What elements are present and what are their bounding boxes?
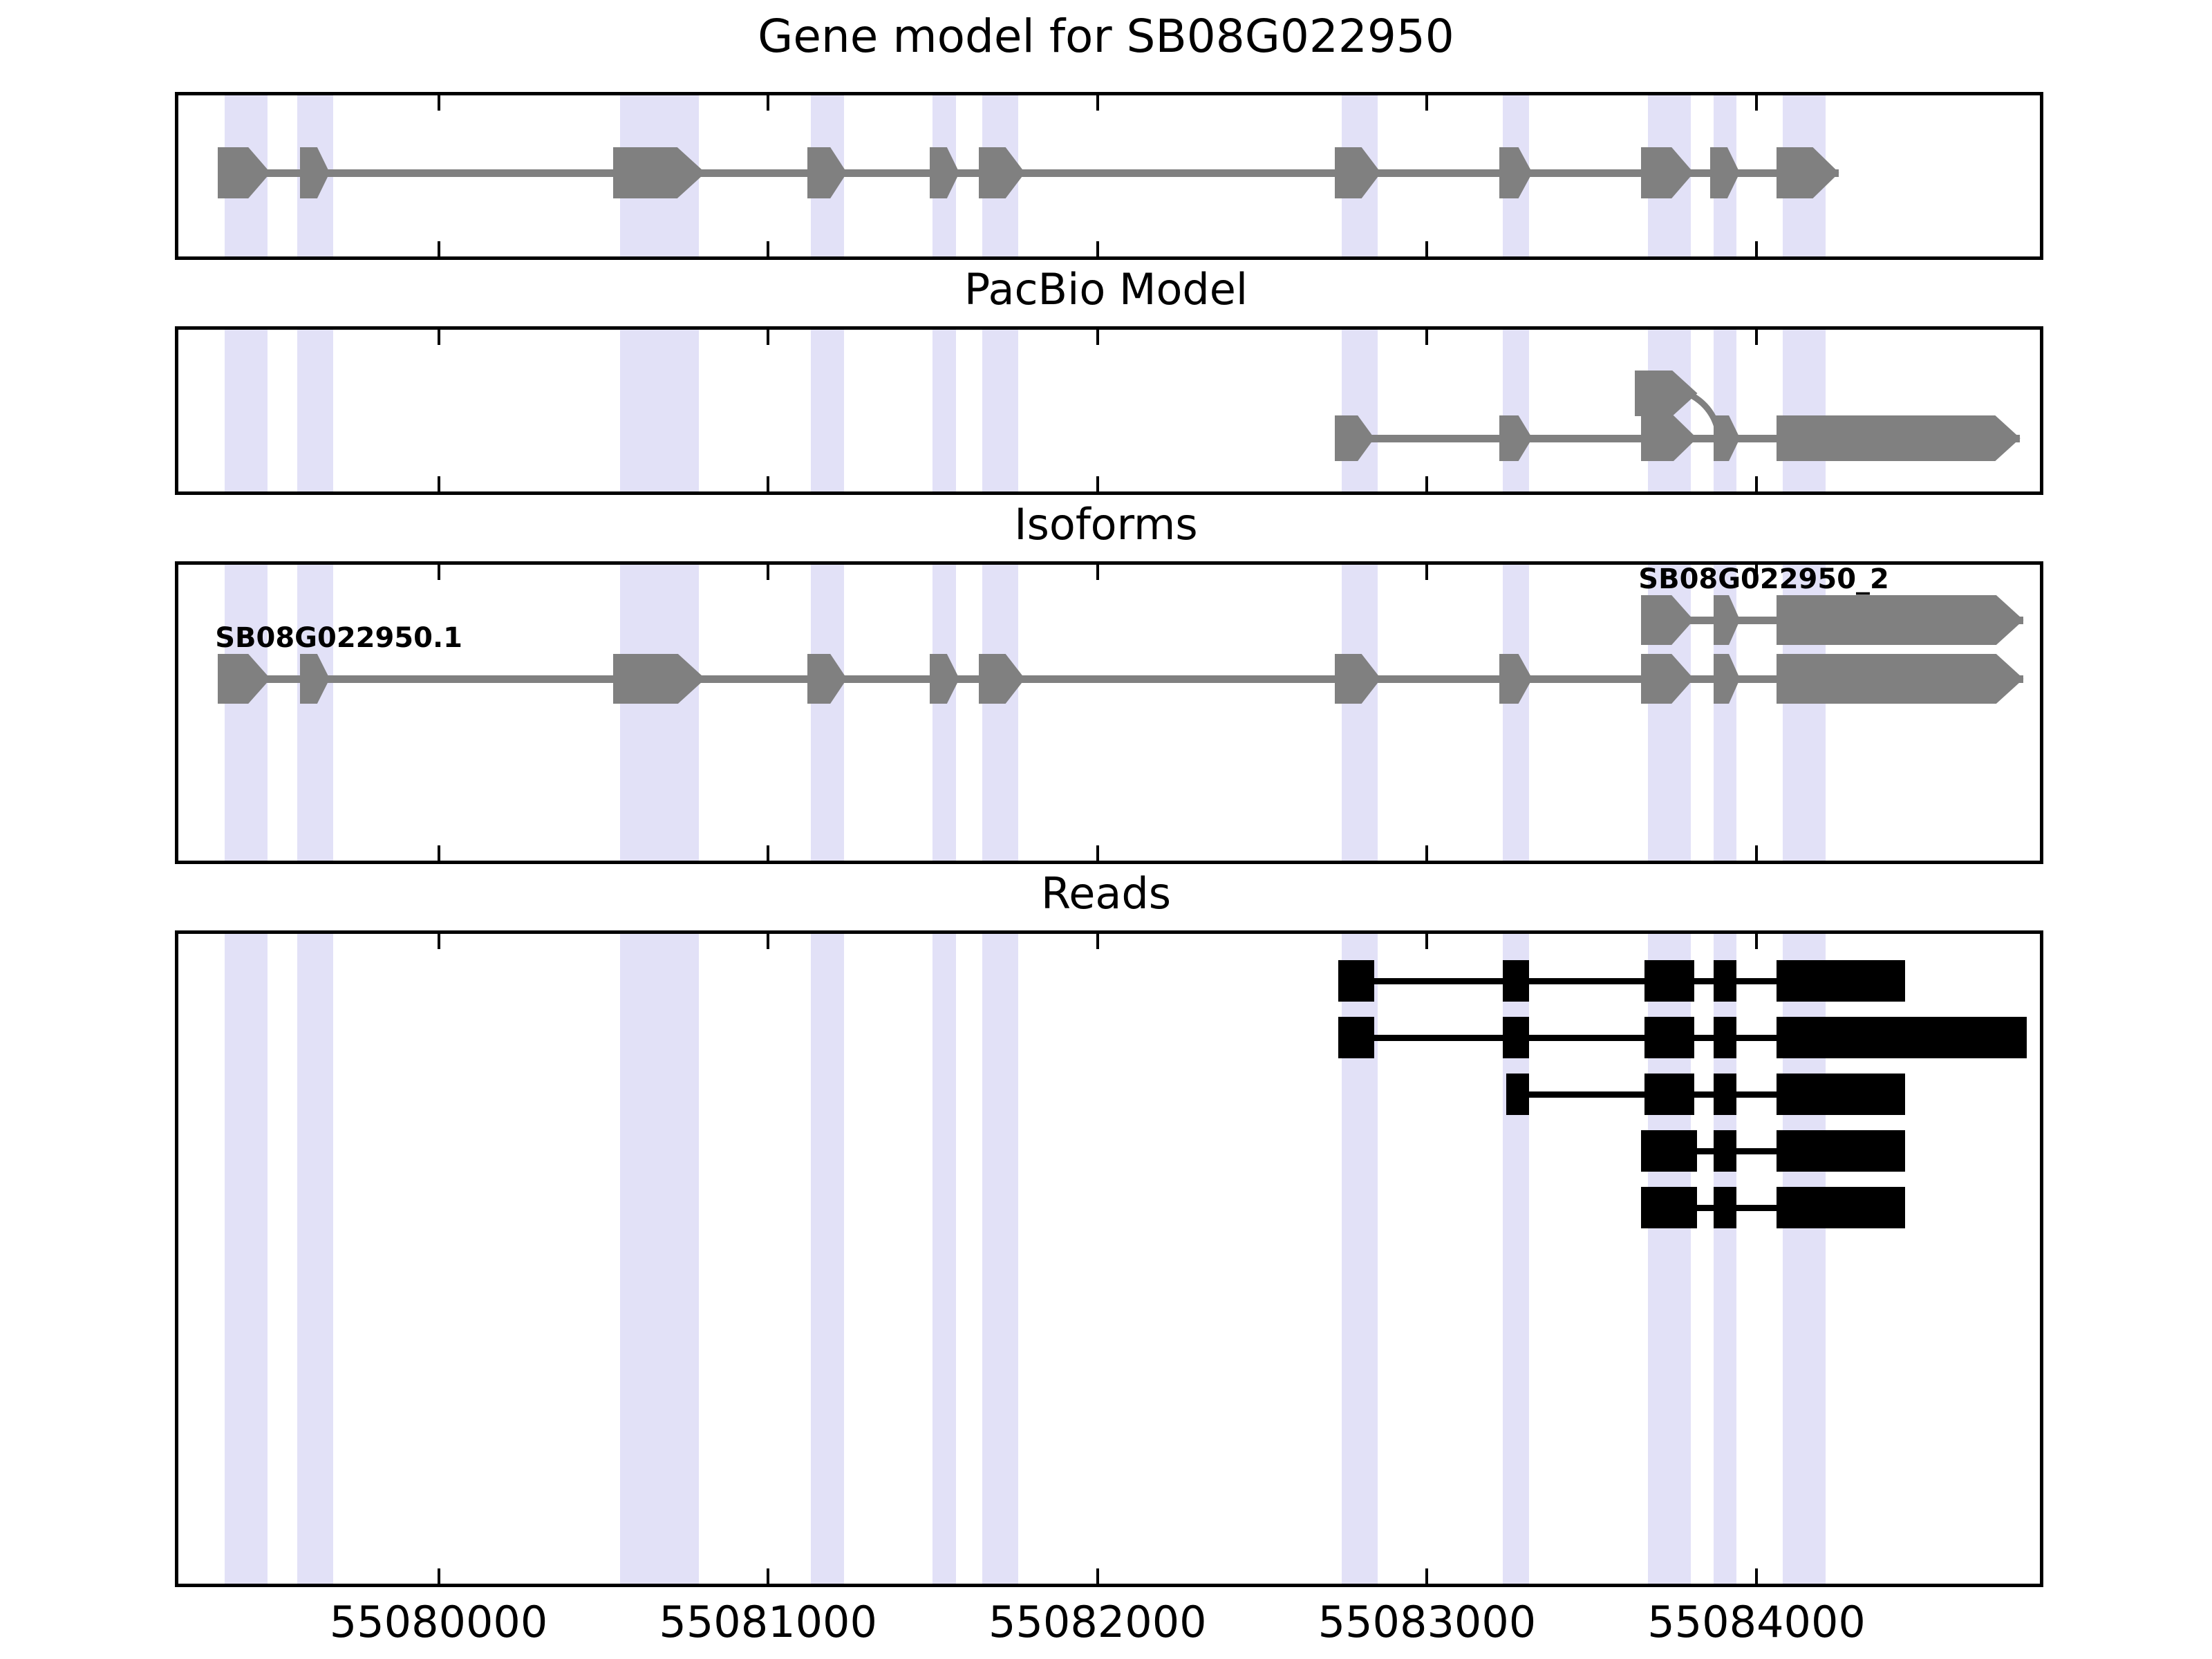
- read-exon-block[interactable]: [1503, 960, 1529, 1002]
- read-exon-block[interactable]: [1714, 1130, 1736, 1172]
- read-exon-block[interactable]: [1777, 960, 1905, 1002]
- read-exon-block[interactable]: [1777, 1017, 2027, 1058]
- axis-tick: [438, 565, 440, 580]
- highlight-band: [1783, 330, 1826, 491]
- read-exon-block[interactable]: [1714, 960, 1736, 1002]
- gene-model-exon[interactable]: [979, 147, 1025, 198]
- isoform-label: SB08G022950_2: [1638, 563, 1889, 595]
- read-exon-block[interactable]: [1714, 1187, 1736, 1228]
- gene-model-figure: Gene model for SB08G022950 PacBio Model …: [0, 0, 2212, 1659]
- axis-tick: [767, 1568, 769, 1584]
- axis-tick: [438, 845, 440, 861]
- gene-model-exon[interactable]: [218, 147, 270, 198]
- axis-tick: [1425, 1568, 1428, 1584]
- isoform-1-intron-line: [218, 675, 2023, 683]
- panel-isoforms[interactable]: SB08G022950_2SB08G022950.1: [175, 561, 2043, 864]
- isoform-1-exon[interactable]: [1714, 654, 1740, 704]
- axis-tick: [1755, 330, 1758, 345]
- axis-tick: [1425, 330, 1428, 345]
- gene-model-exon[interactable]: [300, 147, 330, 198]
- read-exon-block[interactable]: [1644, 1017, 1694, 1058]
- read-exon-block[interactable]: [1714, 1017, 1736, 1058]
- axis-tick: [438, 95, 440, 111]
- highlight-band: [620, 934, 699, 1584]
- highlight-band: [297, 330, 333, 491]
- isoform-0-exon[interactable]: [1714, 595, 1740, 645]
- axis-tick: [1096, 934, 1099, 949]
- axis-tick: [767, 241, 769, 256]
- isoform-1-exon[interactable]: [613, 654, 705, 704]
- highlight-band: [1342, 565, 1378, 861]
- pacbio-model-title: PacBio Model: [0, 264, 2212, 315]
- gene-model-exon[interactable]: [1777, 147, 1839, 198]
- highlight-band: [225, 330, 268, 491]
- axis-tick: [1425, 565, 1428, 580]
- gene-model-exon[interactable]: [1499, 147, 1533, 198]
- read-exon-block[interactable]: [1338, 1017, 1374, 1058]
- axis-tick: [1425, 476, 1428, 491]
- x-axis-tick-label: 55084000: [1647, 1597, 1866, 1647]
- axis-tick: [767, 330, 769, 345]
- isoform-1-exon[interactable]: [1499, 654, 1533, 704]
- reads-title: Reads: [0, 868, 2212, 919]
- panel-reads[interactable]: [175, 930, 2043, 1587]
- highlight-band: [620, 565, 699, 861]
- x-axis-tick-label: 55082000: [988, 1597, 1207, 1647]
- read-exon-block[interactable]: [1644, 1074, 1694, 1115]
- gene-model-exon[interactable]: [1335, 147, 1381, 198]
- x-axis-tick-label: 55083000: [1318, 1597, 1537, 1647]
- highlight-band: [982, 934, 1018, 1584]
- axis-tick: [1425, 845, 1428, 861]
- axis-tick: [1096, 95, 1099, 111]
- axis-tick: [1096, 845, 1099, 861]
- axis-tick: [1096, 330, 1099, 345]
- axis-tick: [1425, 95, 1428, 111]
- isoform-1-exon[interactable]: [807, 654, 847, 704]
- axis-tick: [438, 1568, 440, 1584]
- axis-tick: [1096, 241, 1099, 256]
- highlight-band: [225, 565, 268, 861]
- pacbio-exon[interactable]: [1641, 415, 1697, 461]
- isoform-0-exon[interactable]: [1641, 595, 1694, 645]
- panel-pacbio-model[interactable]: [175, 326, 2043, 495]
- axis-tick: [1096, 1568, 1099, 1584]
- highlight-band: [620, 330, 699, 491]
- axis-tick: [438, 241, 440, 256]
- axis-tick: [1755, 845, 1758, 861]
- pacbio-alternate-exon[interactable]: [1635, 371, 1698, 416]
- read-exon-block[interactable]: [1641, 1187, 1697, 1228]
- axis-tick: [1755, 1568, 1758, 1584]
- read-exon-block[interactable]: [1777, 1130, 1905, 1172]
- gene-model-title: Gene model for SB08G022950: [0, 10, 2212, 63]
- axis-tick: [767, 845, 769, 861]
- highlight-band: [932, 934, 955, 1584]
- highlight-band: [932, 330, 955, 491]
- isoform-1-exon[interactable]: [300, 654, 330, 704]
- gene-model-intron-line: [218, 169, 1839, 177]
- read-exon-block[interactable]: [1777, 1074, 1905, 1115]
- x-axis-tick-label: 55080000: [330, 1597, 548, 1647]
- x-axis-tick-label: 55081000: [659, 1597, 877, 1647]
- isoform-1-exon[interactable]: [930, 654, 959, 704]
- isoform-1-exon[interactable]: [218, 654, 270, 704]
- gene-model-exon[interactable]: [613, 147, 705, 198]
- highlight-band: [225, 934, 268, 1584]
- read-exon-block[interactable]: [1503, 1017, 1529, 1058]
- axis-tick: [1096, 565, 1099, 580]
- read-exon-block[interactable]: [1641, 1130, 1697, 1172]
- pacbio-exon[interactable]: [1714, 415, 1740, 461]
- axis-tick: [767, 934, 769, 949]
- axis-tick: [1425, 934, 1428, 949]
- read-exon-block[interactable]: [1644, 960, 1694, 1002]
- pacbio-exon[interactable]: [1335, 415, 1374, 461]
- isoform-1-exon[interactable]: [1777, 654, 2023, 704]
- read-exon-block[interactable]: [1338, 960, 1374, 1002]
- axis-tick: [1755, 95, 1758, 111]
- highlight-band: [982, 565, 1018, 861]
- gene-model-exon[interactable]: [807, 147, 847, 198]
- gene-model-exon[interactable]: [1641, 147, 1694, 198]
- gene-model-exon[interactable]: [1710, 147, 1740, 198]
- read-exon-block[interactable]: [1714, 1074, 1736, 1115]
- highlight-band: [297, 565, 333, 861]
- highlight-band: [811, 934, 844, 1584]
- highlight-band: [982, 330, 1018, 491]
- read-exon-block[interactable]: [1777, 1187, 1905, 1228]
- axis-tick: [767, 95, 769, 111]
- axis-tick: [1755, 241, 1758, 256]
- axis-tick: [1755, 934, 1758, 949]
- pacbio-exon[interactable]: [1777, 415, 2021, 461]
- highlight-band: [811, 330, 844, 491]
- gene-model-exon[interactable]: [930, 147, 959, 198]
- highlight-band: [811, 565, 844, 861]
- axis-tick: [1096, 476, 1099, 491]
- highlight-band: [1503, 565, 1529, 861]
- isoform-1-exon[interactable]: [1335, 654, 1381, 704]
- isoform-0-exon[interactable]: [1777, 595, 2023, 645]
- panel-gene-model[interactable]: [175, 92, 2043, 260]
- axis-tick: [438, 934, 440, 949]
- highlight-band: [1503, 330, 1529, 491]
- isoform-1-exon[interactable]: [1641, 654, 1694, 704]
- axis-tick: [438, 476, 440, 491]
- read-exon-block[interactable]: [1506, 1074, 1529, 1115]
- isoforms-title: Isoforms: [0, 499, 2212, 550]
- highlight-band: [932, 565, 955, 861]
- axis-tick: [767, 476, 769, 491]
- axis-tick: [1755, 476, 1758, 491]
- highlight-band: [1342, 330, 1378, 491]
- axis-tick: [767, 565, 769, 580]
- highlight-band: [297, 934, 333, 1584]
- axis-tick: [438, 330, 440, 345]
- isoform-1-exon[interactable]: [979, 654, 1025, 704]
- isoform-label: SB08G022950.1: [215, 622, 462, 654]
- axis-tick: [1425, 241, 1428, 256]
- pacbio-exon[interactable]: [1499, 415, 1533, 461]
